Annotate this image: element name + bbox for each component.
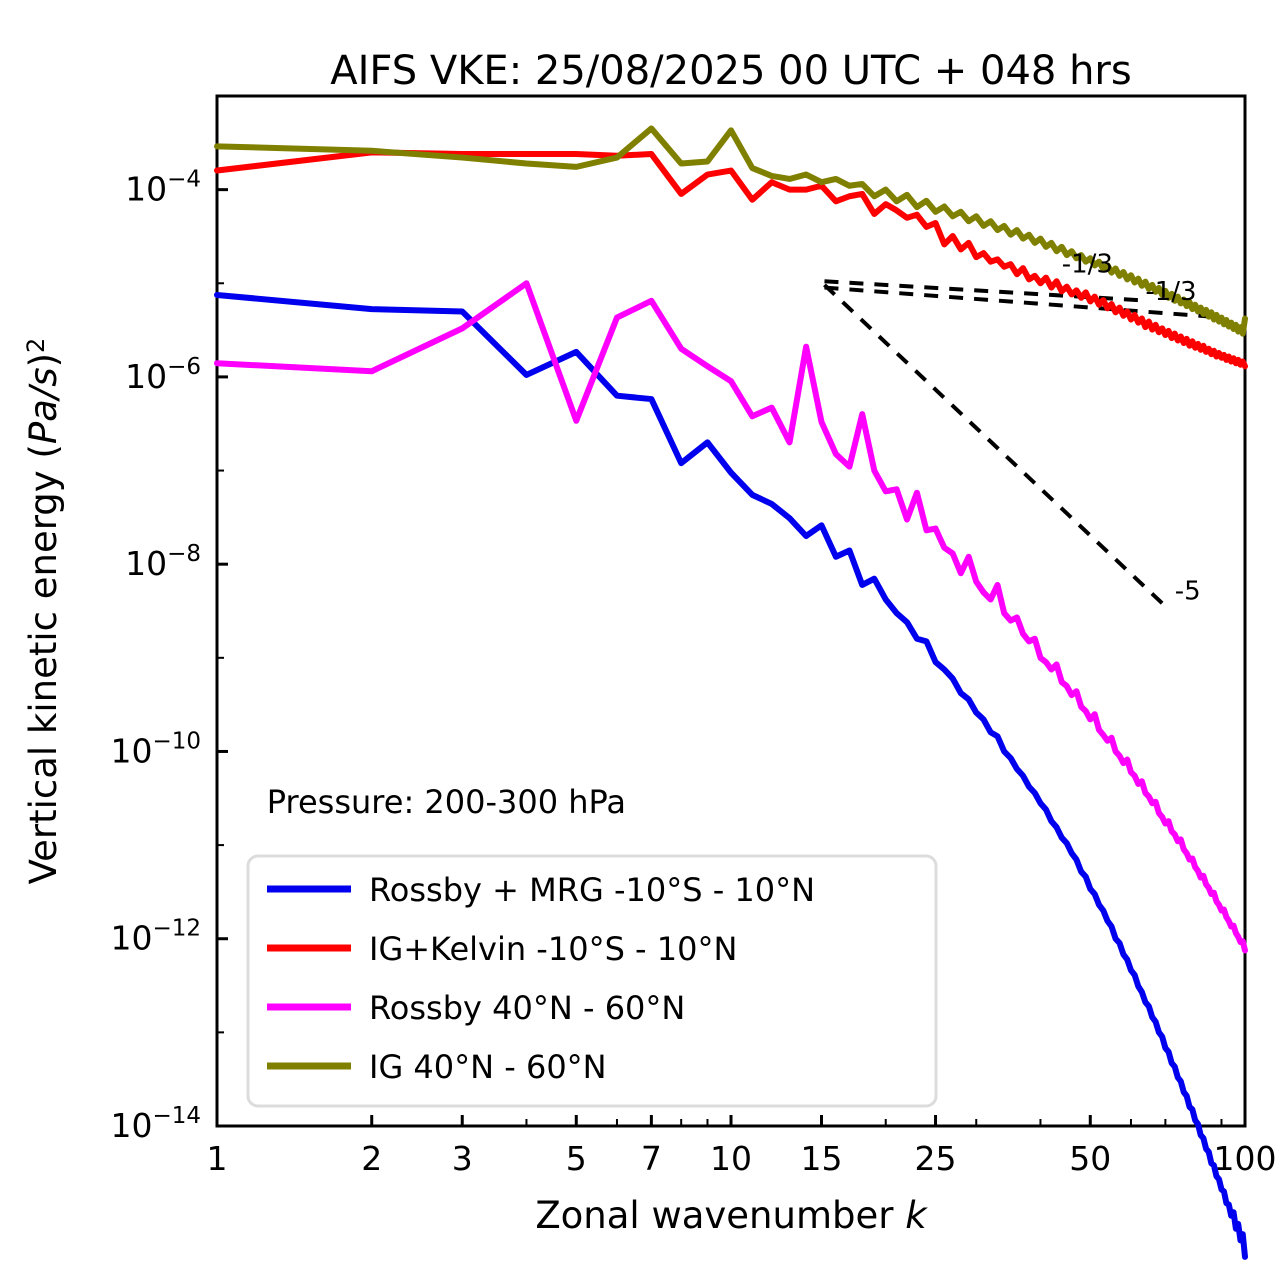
x-tick-label: 1 xyxy=(207,1139,228,1178)
x-tick-label: 3 xyxy=(452,1139,473,1178)
y-axis-ticks: 10−410−610−810−1010−1210−14 xyxy=(110,167,228,1145)
x-tick-label: 10 xyxy=(710,1139,752,1178)
legend-label-3[interactable]: IG 40°N - 60°N xyxy=(369,1048,607,1086)
legend-label-2[interactable]: Rossby 40°N - 60°N xyxy=(369,989,685,1027)
slope-label-lower: -1/3 xyxy=(1145,277,1196,307)
x-tick-label: 25 xyxy=(915,1139,957,1178)
legend-label-0[interactable]: Rossby + MRG -10°S - 10°N xyxy=(369,871,815,909)
x-axis-label: Zonal wavenumber k xyxy=(535,1194,928,1237)
figure-canvas: AIFS VKE: 25/08/2025 00 UTC + 048 hrs 12… xyxy=(0,0,1280,1288)
legend-label-1[interactable]: IG+Kelvin -10°S - 10°N xyxy=(369,930,737,968)
y-tick-label: 10−8 xyxy=(125,541,201,583)
y-tick-label: 10−6 xyxy=(125,354,201,396)
y-tick-label: 10−12 xyxy=(110,916,201,958)
x-tick-label: 7 xyxy=(641,1139,662,1178)
y-tick-label: 10−10 xyxy=(110,728,201,770)
y-tick-label: 10−4 xyxy=(125,167,201,209)
vke-spectrum-chart: AIFS VKE: 25/08/2025 00 UTC + 048 hrs 12… xyxy=(0,0,1280,1288)
x-tick-label: 15 xyxy=(801,1139,843,1178)
x-tick-label: 2 xyxy=(361,1139,382,1178)
y-axis-label: Vertical kinetic energy (Pa/s)2 xyxy=(22,338,65,885)
y-tick-label: 10−14 xyxy=(110,1103,201,1145)
slope-label-five: -5 xyxy=(1175,576,1201,606)
pressure-annotation: Pressure: 200-300 hPa xyxy=(267,783,626,821)
x-tick-label: 50 xyxy=(1069,1139,1111,1178)
slope-label-upper: -1/3 xyxy=(1062,250,1113,280)
x-tick-label: 5 xyxy=(566,1139,587,1178)
chart-legend[interactable]: Rossby + MRG -10°S - 10°NIG+Kelvin -10°S… xyxy=(248,856,936,1106)
chart-title: AIFS VKE: 25/08/2025 00 UTC + 048 hrs xyxy=(330,48,1131,94)
x-tick-label: 100 xyxy=(1214,1139,1277,1178)
